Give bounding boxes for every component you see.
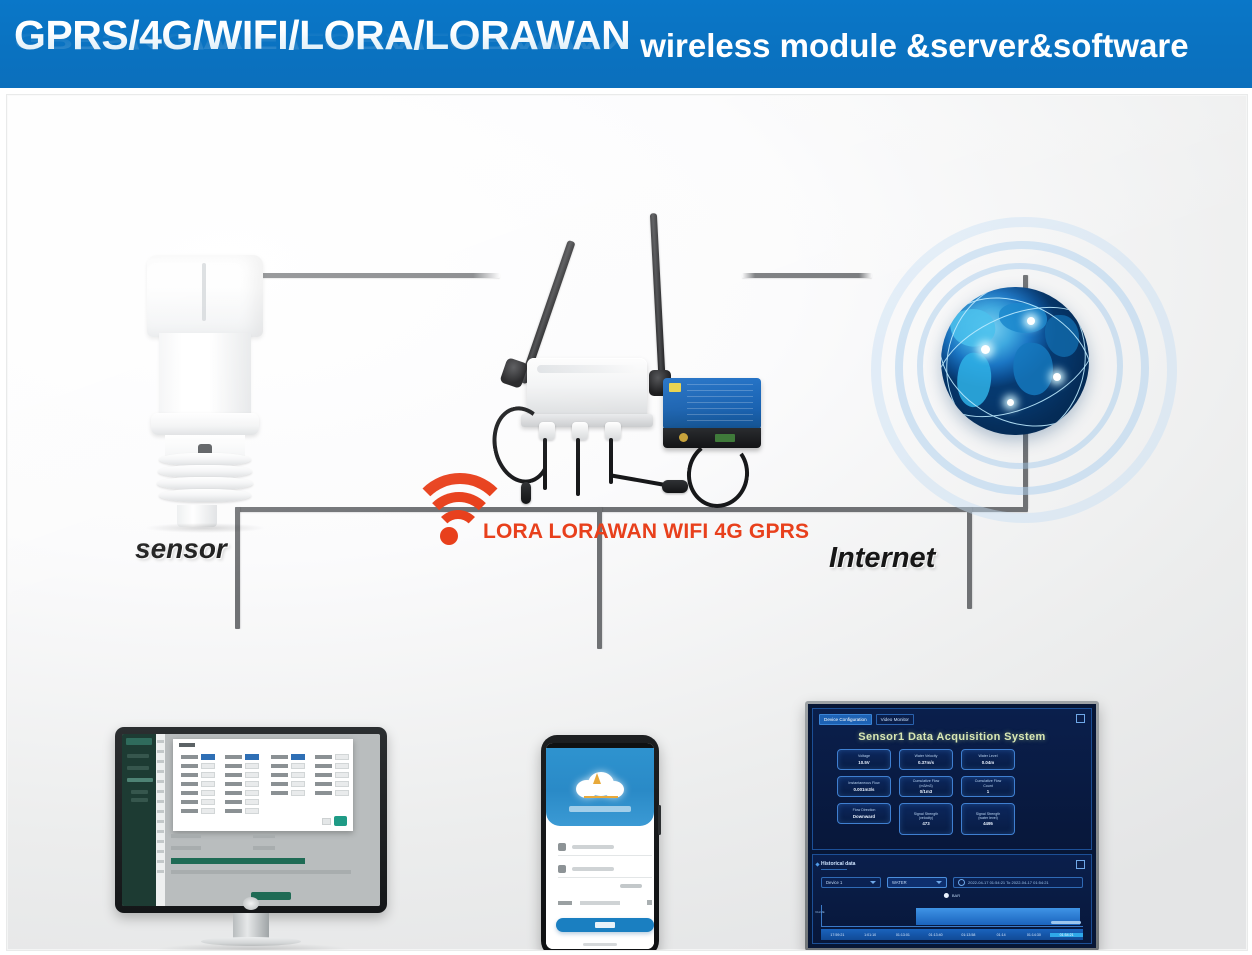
lora-gateway-enclosure (527, 358, 647, 420)
sidebar-item[interactable] (127, 778, 153, 782)
metric-card: Instantaneous Flow 0.001m3/s (837, 776, 891, 797)
cable-gland (605, 422, 621, 440)
chart-x-axis: 17:59:21 1:01:10 01:13:01 01:13:40 01:13… (821, 929, 1083, 940)
calendar-icon (958, 879, 965, 886)
web-table-header-row (171, 858, 305, 864)
username-placeholder (572, 845, 614, 849)
wireless-protocols-label: LORA LORAWAN WIFI 4G GPRS (483, 520, 809, 544)
web-table-label (171, 834, 201, 838)
expand-icon[interactable] (1076, 860, 1085, 869)
mobile-view-phone (541, 735, 659, 951)
dialog-title (179, 743, 195, 747)
panel-tab-bar: Device Configuration Video Monitor (819, 714, 914, 725)
tab-video-monitor[interactable]: Video Monitor (876, 714, 914, 725)
metric-card: Voltage 10.5V (837, 749, 891, 770)
sensor-cable (576, 438, 580, 496)
metric-card: Water Velocity 0.37m/s (899, 749, 953, 770)
tablet-screen[interactable]: Device Configuration Video Monitor Senso… (808, 704, 1096, 948)
metric-card: Cumulative Flow Count 1 (961, 776, 1015, 797)
dialog-form-column (315, 753, 357, 798)
antenna-left-base (499, 357, 528, 389)
history-filter-bar: Device 1 WATER 2022-04-17 01:54:21 To 20… (821, 877, 1083, 888)
caption-sensor: sensor (135, 533, 227, 565)
web-table-label (171, 846, 201, 850)
password-placeholder (572, 867, 614, 871)
metric-value: 473 (922, 821, 929, 826)
metric-card: Flow Direction Downward (837, 803, 891, 824)
expand-icon[interactable] (1076, 714, 1085, 723)
dashboard-title: Sensor1 Data Acquisition System (813, 731, 1091, 743)
phone-home-indicator (583, 943, 617, 946)
password-field[interactable] (558, 862, 652, 878)
wifi-dot (440, 527, 458, 545)
metric-label: Cumulative Flow Count (975, 779, 1002, 788)
date-range-value: 2022-04-17 01:54:21 To 2022-04-17 01:54:… (968, 880, 1049, 885)
tab-device-configuration[interactable]: Device Configuration (819, 714, 872, 725)
signal-wave-icon (584, 782, 618, 798)
dialog-form-column (225, 753, 267, 816)
phone-power-button[interactable] (658, 805, 661, 835)
historical-data-panel: Historical data Device 1 WATER 2022-04-1… (812, 854, 1092, 944)
device-configuration-panel: Device Configuration Video Monitor Senso… (812, 708, 1092, 850)
x-tick: 01:14 (985, 933, 1018, 937)
toggle-dot-icon (944, 893, 949, 898)
gateway-device-group (477, 210, 777, 520)
sidebar-item[interactable] (127, 754, 149, 758)
field-select-value: WATER (892, 880, 907, 885)
user-icon (558, 843, 566, 851)
chart-scrollbar[interactable] (1051, 921, 1081, 924)
app-brand-text (569, 806, 631, 812)
monitor-screen[interactable] (122, 734, 380, 906)
historical-data-title: Historical data (821, 861, 855, 867)
metric-label: Water Velocity (915, 754, 938, 758)
metric-value: 0.37m/s (918, 760, 934, 765)
sidebar-item[interactable] (127, 766, 149, 770)
metric-label: Voltage (858, 754, 870, 758)
metric-label: Water Level (978, 754, 997, 758)
field-select[interactable]: WATER (887, 877, 947, 888)
weather-sensor-device (139, 255, 271, 525)
web-sidebar[interactable] (122, 734, 156, 906)
web-row-index-rail (156, 734, 165, 906)
history-chart: VALUE (821, 905, 1083, 927)
metric-value: Downward (853, 814, 875, 819)
server-select[interactable] (558, 898, 652, 910)
mobile-login-screen[interactable] (546, 743, 654, 949)
globe-node (1053, 373, 1061, 381)
x-tick: 01:13:58 (952, 933, 985, 937)
sensor-shadow (145, 523, 265, 533)
metric-value: 0/1m3 (920, 789, 932, 794)
lock-icon (558, 865, 566, 873)
cable-connector (662, 480, 688, 493)
sensor-collar (151, 413, 259, 435)
toggle-label: BAR (952, 893, 960, 898)
web-sidebar-logo (126, 738, 152, 745)
internet-globe-graphic (869, 215, 1159, 505)
globe-sphere (941, 287, 1089, 435)
web-view-monitor (115, 727, 387, 951)
diagram-canvas: sensor (6, 94, 1248, 951)
metric-value: 0.04m (982, 760, 994, 765)
x-tick: 01:13:01 (887, 933, 920, 937)
metric-value: 10.5V (858, 760, 869, 765)
monitor-bezel (115, 727, 387, 913)
antenna-right-icon (650, 213, 666, 388)
metric-value: 0.001m3/s (854, 787, 875, 792)
dialog-form-column (181, 753, 223, 816)
tablet-pc-view: Device Configuration Video Monitor Senso… (805, 701, 1099, 951)
username-field[interactable] (558, 840, 652, 856)
configuration-dialog[interactable] (173, 739, 353, 831)
x-tick: 01:13:40 (919, 933, 952, 937)
wire-bus-to-tablet (967, 507, 972, 609)
metric-label: Flow Direction (853, 808, 876, 812)
web-table-label (253, 834, 275, 838)
wire-sensor-to-gateway (232, 273, 500, 278)
metric-card: Water Level 0.04m (961, 749, 1015, 770)
title-underline (821, 869, 847, 870)
header-title-row: GPRS/4G/WIFI/LORA/LORAWAN GPRS/4G/WIFI/L… (14, 12, 1242, 76)
login-button[interactable] (556, 918, 654, 932)
metric-label: Instantaneous Flow (848, 781, 879, 785)
metric-card: Signal Strength (velocity) 473 (899, 803, 953, 835)
x-tick: 17:59:21 (821, 933, 854, 937)
login-button-label (595, 922, 615, 928)
header-title-primary: GPRS/4G/WIFI/LORA/LORAWAN (14, 12, 630, 58)
shield-disc (159, 489, 251, 502)
chart-y-axis-label: VALUE (815, 911, 821, 914)
device-select-value: Device 1 (826, 880, 842, 885)
dialog-cancel-button[interactable] (322, 818, 331, 825)
login-form (546, 826, 654, 949)
header-title-primary-wrap: GPRS/4G/WIFI/LORA/LORAWAN GPRS/4G/WIFI/L… (14, 12, 630, 58)
forgot-password-link[interactable] (620, 884, 642, 888)
web-content-area (165, 734, 380, 906)
sensor-radiation-shield (157, 453, 253, 511)
metric-card-grid: Voltage 10.5V Water Velocity 0.37m/s Wat… (837, 749, 1073, 835)
web-table-label (253, 846, 275, 850)
device-select[interactable]: Device 1 (821, 877, 881, 888)
metric-value: 1 (987, 789, 989, 794)
chart-type-toggle[interactable]: BAR (944, 893, 960, 898)
dialog-form-column (271, 753, 313, 798)
date-range-picker[interactable]: 2022-04-17 01:54:21 To 2022-04-17 01:54:… (953, 877, 1083, 888)
metric-label: Signal Strength (water level) (976, 812, 1001, 821)
dtu-module-top (663, 378, 761, 430)
x-tick: 1:01:10 (854, 933, 887, 937)
monitor-stand-neck (233, 913, 269, 939)
globe-node (1007, 399, 1014, 406)
metric-value: 4495 (983, 821, 993, 826)
globe-node (981, 345, 990, 354)
cable-connector (521, 482, 531, 504)
cable-gland (572, 422, 588, 440)
globe-node (1027, 317, 1035, 325)
page-header-banner: GPRS/4G/WIFI/LORA/LORAWAN GPRS/4G/WIFI/L… (0, 0, 1252, 88)
header-title-secondary: wireless module &server&software (640, 20, 1188, 69)
login-hero-panel (546, 748, 654, 826)
metric-card: Signal Strength (water level) 4495 (961, 803, 1015, 835)
monitor-shadow (155, 943, 351, 951)
dialog-confirm-button[interactable] (334, 816, 347, 826)
sidebar-subitem[interactable] (131, 798, 148, 802)
sensor-cable (543, 438, 547, 490)
metric-card: Cumulative Flow (m3/m3) 0/1m3 (899, 776, 953, 797)
sensor-body (159, 333, 251, 417)
sensor-cable (609, 473, 665, 487)
sidebar-subitem[interactable] (131, 790, 148, 794)
slide-root: GPRS/4G/WIFI/LORA/LORAWAN GPRS/4G/WIFI/L… (0, 0, 1252, 955)
x-tick-active: 01:54:21 (1050, 933, 1083, 937)
sensor-ultrasonic-cap (147, 255, 263, 337)
cloud-logo-icon (574, 770, 626, 800)
table-row (171, 870, 351, 874)
caption-internet: Internet (829, 542, 935, 575)
monitor-brand-logo (243, 897, 259, 910)
metric-label: Signal Strength (velocity) (914, 812, 939, 821)
metric-label: Cumulative Flow (m3/m3) (913, 779, 940, 788)
x-tick: 01:14:30 (1018, 933, 1051, 937)
